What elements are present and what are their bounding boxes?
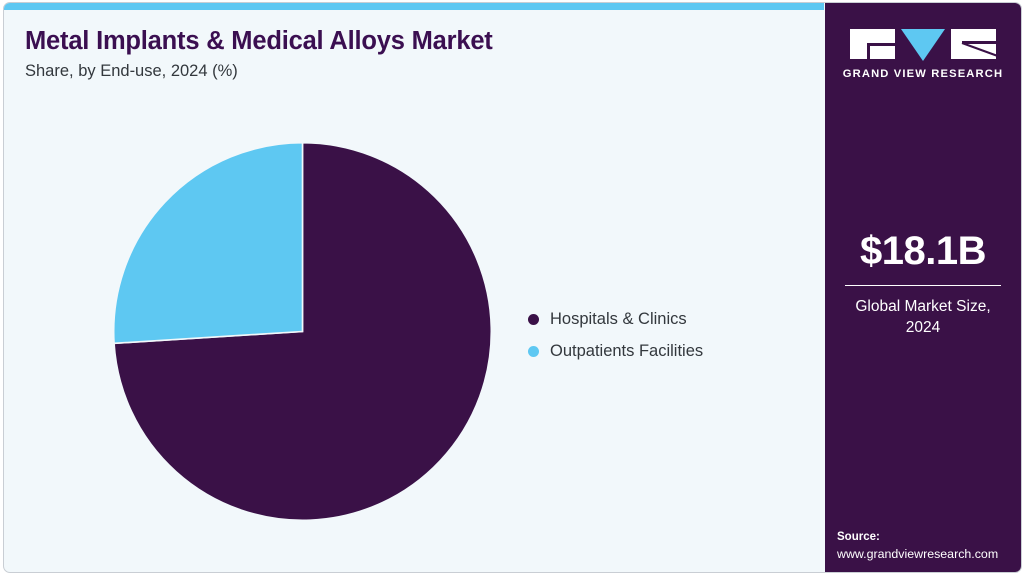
legend-item-outpatients-facilities[interactable]: Outpatients Facilities [528,335,808,367]
chart-figure: Metal Implants & Medical Alloys Market S… [0,0,1025,576]
legend-swatch-icon [528,346,539,357]
legend-label: Hospitals & Clinics [550,311,687,328]
logo-marks [825,29,1021,59]
source-label: Source: [837,529,1015,546]
legend-swatch-icon [528,314,539,325]
page-title: Metal Implants & Medical Alloys Market [25,27,785,55]
top-accent-bar [4,3,824,10]
logo-letter-g-icon [850,29,895,59]
chart-subtitle: Share, by End-use, 2024 (%) [25,62,785,82]
logo-letter-v-triangle-icon [901,29,945,61]
logo-wordmark: GRAND VIEW RESEARCH [825,68,1021,80]
chart-card: Metal Implants & Medical Alloys Market S… [3,2,1022,573]
source-url[interactable]: www.grandviewresearch.com [837,546,1015,563]
chart-legend: Hospitals & Clinics Outpatients Faciliti… [528,303,808,367]
market-size-stat: $18.1B Global Market Size, 2024 [825,231,1021,338]
legend-label: Outpatients Facilities [550,343,703,360]
pie-chart [113,142,492,521]
market-size-caption: Global Market Size, 2024 [825,297,1021,338]
grand-view-research-logo: GRAND VIEW RESEARCH [825,29,1021,80]
market-size-value: $18.1B [825,231,1021,271]
pie-slice-outpatients-facilities[interactable] [114,143,303,344]
brand-side-panel: GRAND VIEW RESEARCH $18.1B Global Market… [825,3,1021,573]
logo-letter-r-icon [951,29,996,59]
source-block: Source: www.grandviewresearch.com [837,529,1015,563]
chart-header: Metal Implants & Medical Alloys Market S… [25,27,785,82]
pie-chart-svg [113,142,492,521]
stat-divider [845,285,1001,286]
legend-item-hospitals-clinics[interactable]: Hospitals & Clinics [528,303,808,335]
